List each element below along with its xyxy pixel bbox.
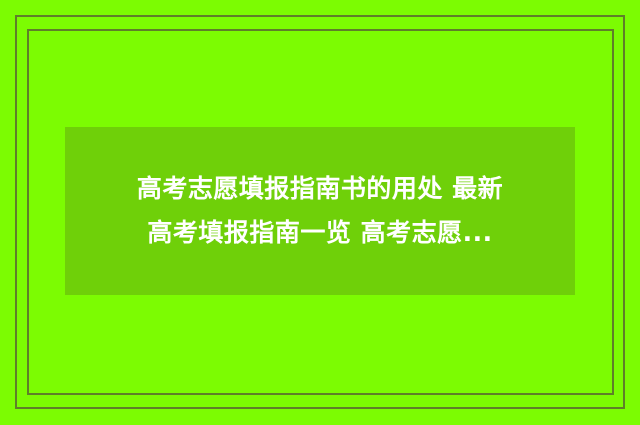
headline-panel: 高考志愿填报指南书的用处 最新 高考填报指南一览 高考志愿... — [65, 127, 575, 295]
headline-line-1: 高考志愿填报指南书的用处 最新 — [83, 167, 557, 211]
placeholder-card: 高考志愿填报指南书的用处 最新 高考填报指南一览 高考志愿... — [0, 0, 640, 425]
headline-line-2: 高考填报指南一览 高考志愿... — [83, 211, 557, 255]
